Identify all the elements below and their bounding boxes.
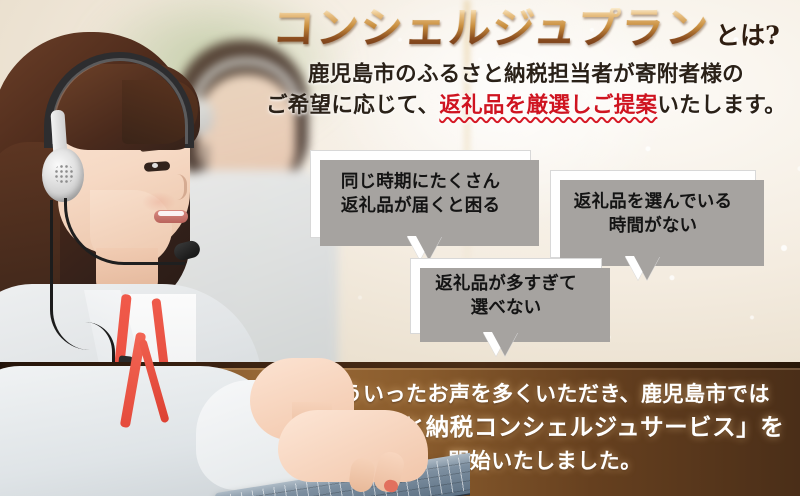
speech-bubble-line: 返礼品が多すぎて	[435, 272, 577, 296]
speech-bubble-line: 同じ時期にたくさん	[341, 170, 500, 194]
subtitle-line-2: ご希望に応じて、返礼品を厳選しご提案いたします。	[252, 91, 800, 122]
page-title: コンシェルジュプラン とは?	[252, 8, 800, 51]
subtitle-line-2-post: いたします。	[657, 93, 786, 118]
speech-bubble-line: 返礼品を選んでいる	[574, 190, 732, 214]
speech-bubble-line: 時間がない	[574, 214, 732, 238]
promo-banner: コンシェルジュプラン とは? 鹿児島市のふるさと納税担当者が寄附者様の ご希望に…	[0, 0, 800, 496]
speech-bubble-line: 選べない	[435, 296, 577, 320]
speech-bubble: 返礼品が多すぎて 選べない	[410, 258, 602, 334]
headline-block: コンシェルジュプラン とは? 鹿児島市のふるさと納税担当者が寄附者様の ご希望に…	[252, 8, 800, 121]
page-title-suffix: とは?	[715, 23, 780, 51]
speech-bubble: 返礼品を選んでいる 時間がない	[550, 170, 756, 258]
speech-bubble: 同じ時期にたくさん 返礼品が届くと困る	[310, 150, 531, 238]
subtitle-line-2-pre: ご希望に応じて、	[266, 93, 439, 118]
subtitle-line-1: 鹿児島市のふるさと納税担当者が寄附者様の	[252, 60, 800, 91]
subtitle-highlight: 返礼品を厳選しご提案	[439, 93, 657, 118]
page-title-main: コンシェルジュプラン	[271, 8, 710, 51]
speech-bubble-tail	[625, 256, 651, 280]
subtitle: 鹿児島市のふるさと納税担当者が寄附者様の ご希望に応じて、返礼品を厳選しご提案い…	[252, 60, 800, 121]
speech-bubble-tail	[483, 332, 509, 356]
speech-bubble-tail	[407, 236, 433, 260]
speech-bubble-line: 返礼品が届くと困る	[341, 194, 500, 218]
hands-on-keyboard	[0, 332, 470, 496]
